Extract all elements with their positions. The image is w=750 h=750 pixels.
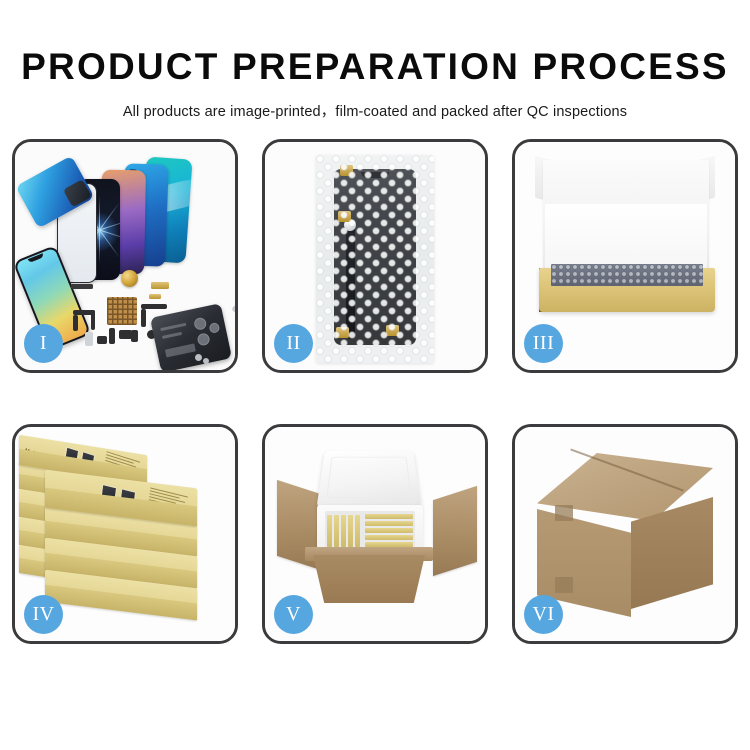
carton-flap-right xyxy=(433,486,477,576)
page-subtitle: All products are image-printed，film-coat… xyxy=(0,85,750,121)
step-badge-4: IV xyxy=(24,595,63,634)
box-lid-front xyxy=(545,204,707,270)
process-step-grid: I II xyxy=(12,139,738,679)
step-badge-3: III xyxy=(524,324,563,363)
process-step-6[interactable]: VI xyxy=(512,424,738,644)
step-badge-5: V xyxy=(274,595,313,634)
page-root: PRODUCT PREPARATION PROCESS All products… xyxy=(0,0,750,750)
process-step-2[interactable]: II xyxy=(262,139,488,373)
spare-parts-cluster xyxy=(69,270,209,366)
bubble-wrap-fill xyxy=(551,264,703,286)
process-step-3[interactable]: III xyxy=(512,139,738,373)
process-step-4[interactable]: Mobile Phone Spare Parts xyxy=(12,424,238,644)
foam-cavity xyxy=(325,511,415,549)
step-badge-2: II xyxy=(274,324,313,363)
process-step-1[interactable]: I xyxy=(12,139,238,373)
foam-lid xyxy=(316,451,421,509)
page-title: PRODUCT PREPARATION PROCESS xyxy=(0,0,750,85)
header: PRODUCT PREPARATION PROCESS All products… xyxy=(0,0,750,121)
bubble-wrap-bag xyxy=(316,155,434,363)
carton-front xyxy=(313,555,425,603)
step-badge-6: VI xyxy=(524,595,563,634)
step-badge-1: I xyxy=(24,324,63,363)
phone-back-housing xyxy=(150,303,232,370)
process-step-5[interactable]: V xyxy=(262,424,488,644)
